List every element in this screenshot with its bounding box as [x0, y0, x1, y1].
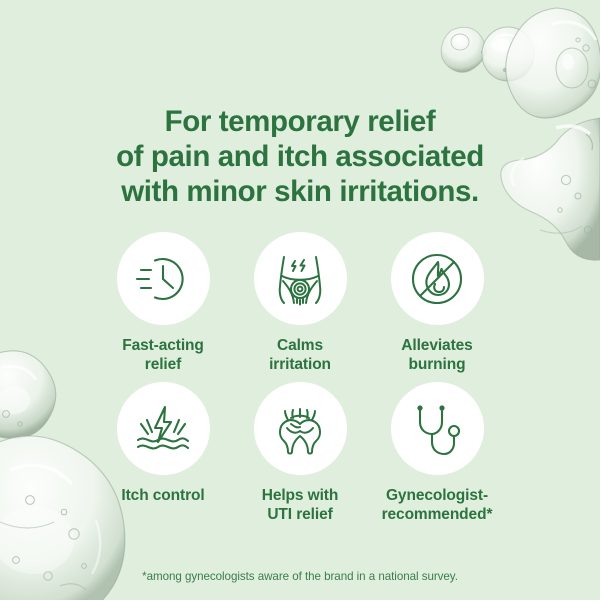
headline-line-1: For temporary relief: [0, 104, 600, 139]
fast-clock-icon: [133, 249, 193, 309]
headline-line-2: of pain and itch associated: [0, 139, 600, 174]
icon-circle: [391, 232, 484, 325]
gel-blob-left-small: [0, 351, 56, 439]
feature-item-fast-acting-relief: Fast-acting relief: [95, 232, 232, 374]
icon-circle: [254, 382, 347, 475]
feature-item-uti-relief: Helps with UTI relief: [232, 382, 369, 524]
icon-circle: [391, 382, 484, 475]
feature-grid: Fast-acting relief: [94, 232, 506, 524]
feature-label: Itch control: [121, 486, 204, 505]
icon-circle: [117, 382, 210, 475]
headline: For temporary relief of pain and itch as…: [0, 104, 600, 209]
gel-droplet-small-top: [441, 27, 486, 72]
stethoscope-icon: [410, 400, 464, 458]
feature-label: Helps with UTI relief: [262, 486, 339, 524]
feature-row-1: Fast-acting relief: [94, 232, 506, 374]
feature-row-2: Itch control: [94, 382, 506, 524]
footnote: *among gynecologists aware of the brand …: [0, 570, 600, 583]
headline-line-3: with minor skin irritations.: [0, 174, 600, 209]
feature-label: Fast-acting relief: [122, 336, 204, 374]
itch-lightning-skin-icon: [133, 400, 193, 458]
promo-poster: For temporary relief of pain and itch as…: [0, 0, 600, 600]
pelvis-irritation-icon: [271, 250, 329, 308]
feature-item-calms-irritation: Calms irritation: [232, 232, 369, 374]
gel-droplet-large-top: [506, 8, 600, 118]
feature-item-gynecologist-recommended: Gynecologist- recommended*: [369, 382, 506, 524]
feature-item-alleviates-burning: Alleviates burning: [369, 232, 506, 374]
bladder-icon: [271, 400, 329, 458]
feature-item-itch-control: Itch control: [95, 382, 232, 524]
feature-label: Gynecologist- recommended*: [382, 486, 493, 524]
icon-circle: [254, 232, 347, 325]
feature-label: Alleviates burning: [401, 336, 472, 374]
feature-label: Calms irritation: [269, 336, 331, 374]
gel-droplet-medium-top: [482, 27, 534, 81]
no-burning-flame-icon: [407, 249, 467, 309]
icon-circle: [117, 232, 210, 325]
